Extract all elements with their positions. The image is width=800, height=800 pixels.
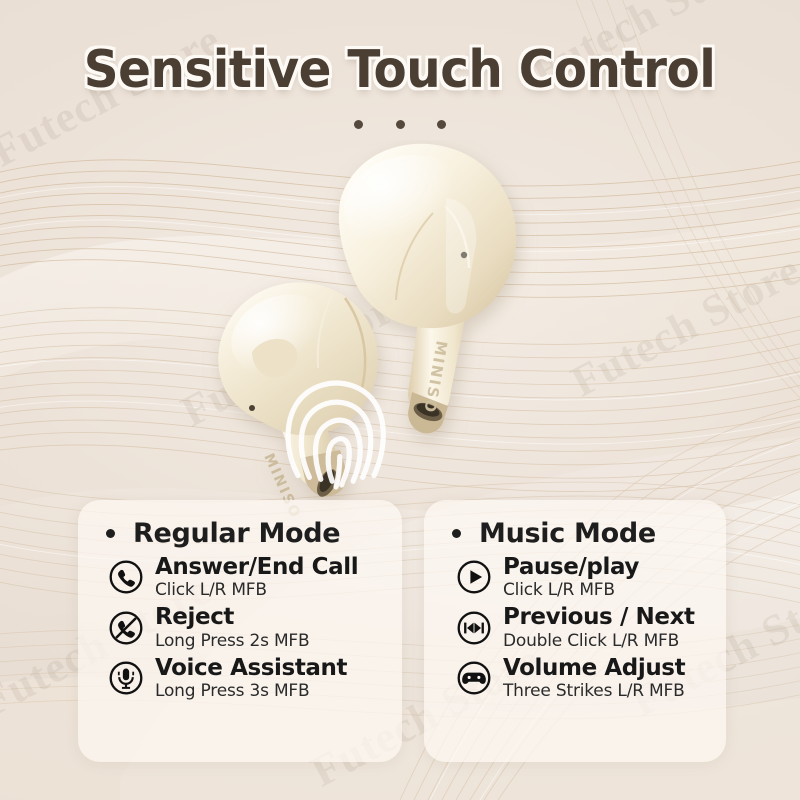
item-subtitle: Long Press 2s MFB — [155, 632, 309, 650]
list-item-previous-next[interactable]: Previous / Next Double Click L/R MFB — [456, 605, 726, 649]
heading-bullet — [452, 529, 461, 538]
list-item-voice-assistant[interactable]: Voice Assistant Long Press 3s MFB — [108, 656, 402, 700]
separator-dot — [354, 120, 363, 129]
heading-bullet — [106, 529, 115, 538]
phone-slash-icon — [108, 610, 144, 646]
item-title: Pause/play — [503, 555, 639, 579]
card-heading-text: Music Mode — [479, 518, 656, 549]
list-item-reject[interactable]: Reject Long Press 2s MFB — [108, 605, 402, 649]
list-item-volume-adjust[interactable]: Volume Adjust Three Strikes L/R MFB — [456, 656, 726, 700]
item-subtitle: Click L/R MFB — [155, 581, 358, 599]
phone-icon — [108, 559, 144, 595]
item-title: Previous / Next — [503, 605, 695, 629]
item-title: Reject — [155, 605, 309, 629]
separator-dot — [437, 120, 446, 129]
item-subtitle: Click L/R MFB — [503, 581, 639, 599]
list-item-answer-end-call[interactable]: Answer/End Call Click L/R MFB — [108, 555, 402, 599]
title-dot-separator — [0, 116, 800, 134]
item-subtitle: Double Click L/R MFB — [503, 632, 695, 650]
card-heading-text: Regular Mode — [133, 518, 340, 549]
item-subtitle: Long Press 3s MFB — [155, 682, 347, 700]
page-title-text: Sensitive Touch Control — [84, 40, 716, 100]
microphone-icon — [108, 660, 144, 696]
item-subtitle: Three Strikes L/R MFB — [503, 682, 685, 700]
prev-next-icon — [456, 610, 492, 646]
card-heading-regular: Regular Mode — [106, 518, 402, 549]
card-heading-music: Music Mode — [452, 518, 726, 549]
page-title: Sensitive Touch Control — [0, 40, 800, 100]
item-title: Voice Assistant — [155, 656, 347, 680]
item-title: Answer/End Call — [155, 555, 358, 579]
earbuds-product-image: MINISO MINISO — [190, 140, 620, 540]
separator-dot — [396, 120, 405, 129]
promo-banner: Futech Store Futech Store Futech Store F… — [0, 0, 800, 800]
card-regular-mode: Regular Mode Answer/End Call Click L/R M… — [78, 500, 402, 762]
item-title: Volume Adjust — [503, 656, 685, 680]
card-music-mode: Music Mode Pause/play Click L/R MFB — [424, 500, 726, 762]
play-icon — [456, 559, 492, 595]
gamepad-icon — [456, 660, 492, 696]
list-item-pause-play[interactable]: Pause/play Click L/R MFB — [456, 555, 726, 599]
